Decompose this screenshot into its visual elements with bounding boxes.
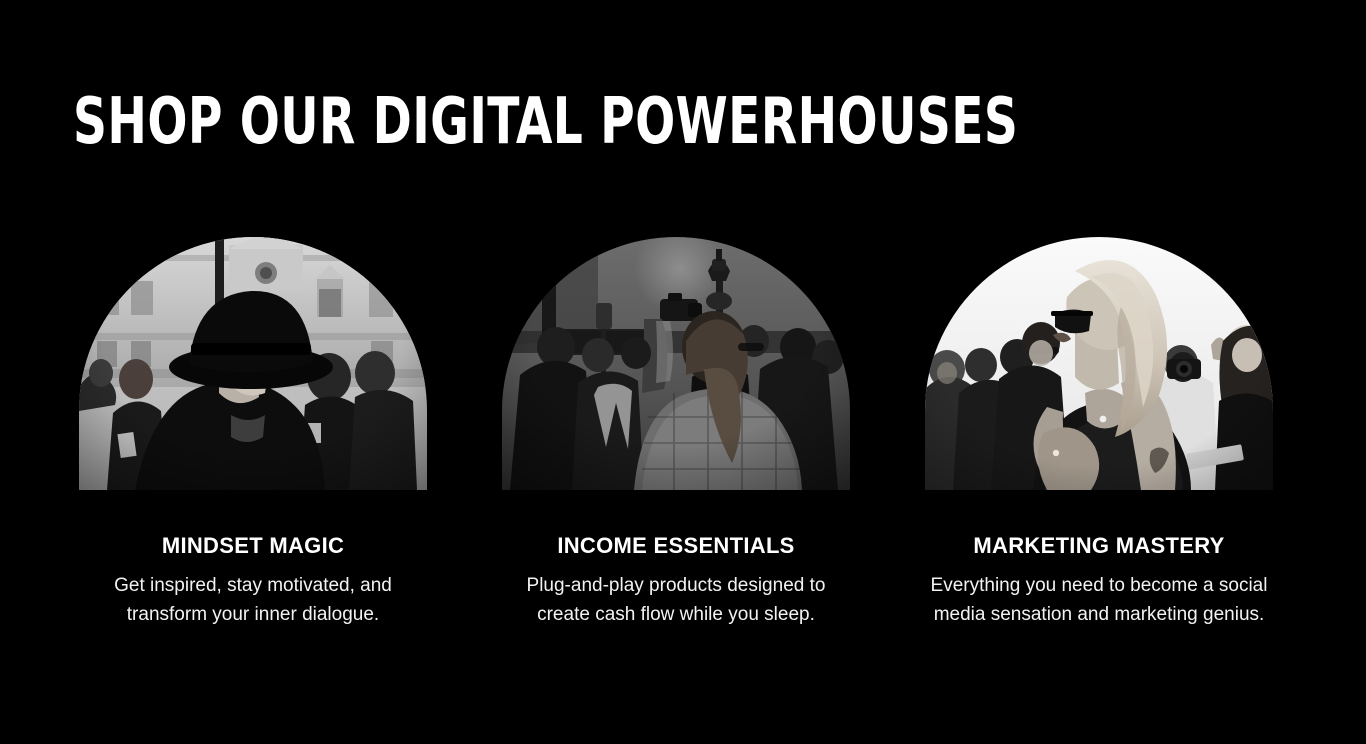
category-description: Get inspired, stay motivated, and transf… [79, 572, 427, 629]
category-image-blonde-woman-in-crowd[interactable] [925, 237, 1273, 490]
category-card-income-essentials[interactable]: INCOME ESSENTIALS Plug-and-play products… [502, 237, 850, 629]
category-description: Everything you need to become a social m… [925, 572, 1273, 629]
category-title: MARKETING MASTERY [973, 533, 1224, 559]
category-description: Plug-and-play products designed to creat… [502, 572, 850, 629]
category-title: INCOME ESSENTIALS [557, 533, 794, 559]
category-card-mindset-magic[interactable]: MINDSET MAGIC Get inspired, stay motivat… [79, 237, 427, 629]
category-card-marketing-mastery[interactable]: MARKETING MASTERY Everything you need to… [925, 237, 1273, 629]
category-title: MINDSET MAGIC [162, 533, 344, 559]
category-image-woman-in-wide-brim-hat[interactable] [79, 237, 427, 490]
category-image-crowd-with-photographers[interactable] [502, 237, 850, 490]
page-title: SHOP OUR DIGITAL POWERHOUSES [73, 88, 1018, 156]
page-root: SHOP OUR DIGITAL POWERHOUSES [0, 0, 1366, 744]
product-category-grid: MINDSET MAGIC Get inspired, stay motivat… [79, 237, 1273, 629]
